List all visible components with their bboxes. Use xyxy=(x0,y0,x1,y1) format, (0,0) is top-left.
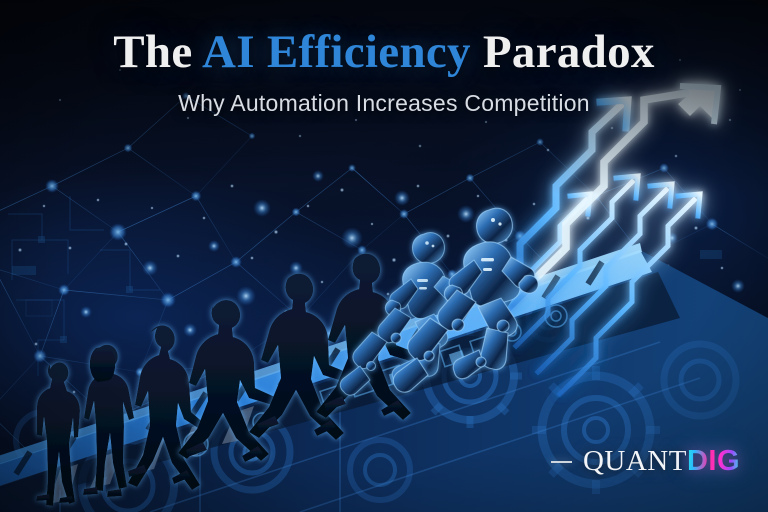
human-silhouette-woman-1 xyxy=(36,362,80,506)
logo-quant-text: QUANT xyxy=(583,445,687,477)
human-silhouette-man-running-1 xyxy=(178,300,275,462)
logo-wordmark: QUANTDIG xyxy=(583,447,740,476)
human-silhouette-man-walking xyxy=(128,325,205,490)
poster-canvas: The AI Efficiency Paradox Why Automation… xyxy=(0,0,768,512)
brand-logo[interactable]: QUANTDIG xyxy=(551,447,740,476)
title-part-2: Paradox xyxy=(471,26,655,78)
logo-dash-icon xyxy=(551,461,572,463)
title-accent: AI Efficiency xyxy=(202,26,471,78)
human-silhouette-man-running-2 xyxy=(249,274,351,440)
logo-dig-text: DIG xyxy=(687,445,740,477)
human-silhouette-woman-2 xyxy=(83,345,134,497)
title-part-1: The xyxy=(113,26,202,78)
page-title: The AI Efficiency Paradox xyxy=(0,28,768,78)
page-subtitle: Why Automation Increases Competition xyxy=(0,90,768,117)
headline-block: The AI Efficiency Paradox Why Automation… xyxy=(0,28,768,117)
